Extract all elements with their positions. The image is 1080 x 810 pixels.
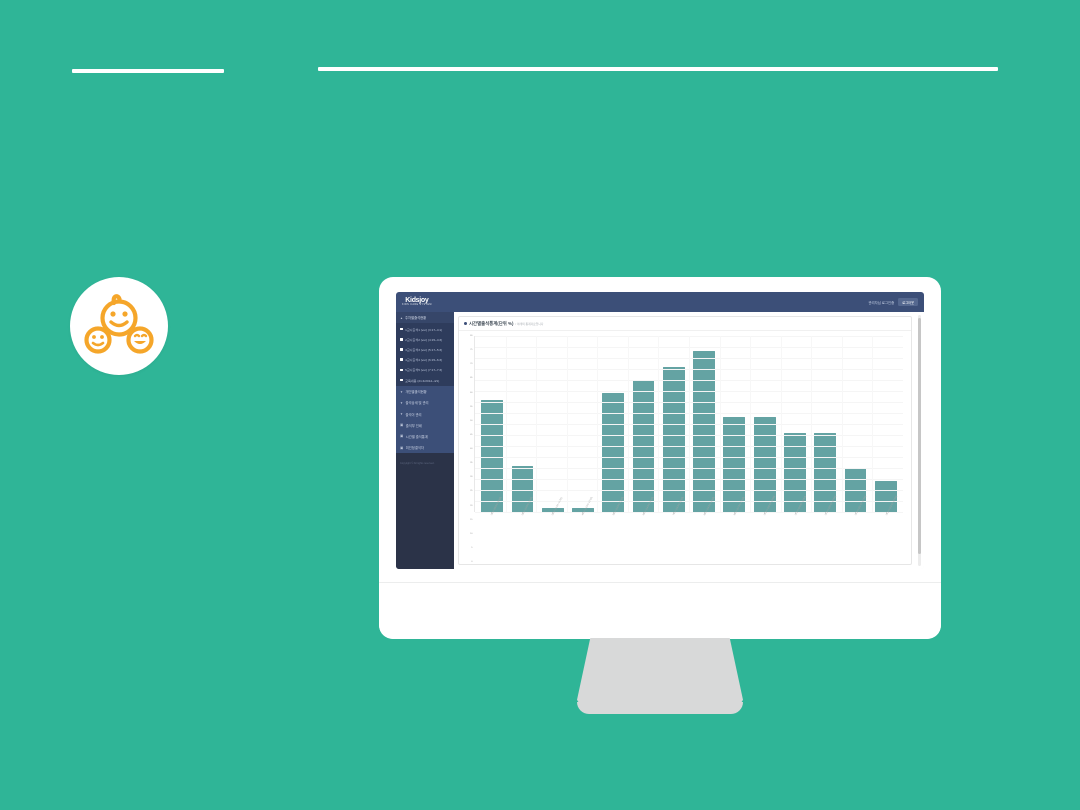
screen: Kidsjoy KIDS CARE SYSTEM 관리자님 로그인중 로그아웃 … — [396, 292, 924, 569]
sidebar-item-label: 출석상세 및 관리 — [405, 400, 428, 405]
gridline-vertical — [872, 336, 873, 512]
sidebar-item-label: 출석부 인쇄 — [406, 423, 422, 428]
bar[interactable] — [875, 481, 897, 512]
screen-body: ▲ 주차별출석현황 1교시출석1 (ver) (3:17~4:1) 2교시출석2… — [396, 312, 924, 569]
chart-container: 05101520253035404550556065707580 1교시 (09… — [459, 331, 911, 564]
sidebar-item-attendance-detail[interactable]: ▼ 출석상세 및 관리 — [396, 397, 454, 408]
square-bullet-icon — [400, 379, 403, 382]
y-axis-tick-label: 65 — [470, 377, 472, 379]
gridline-vertical — [628, 336, 629, 512]
square-bullet-icon — [400, 358, 403, 361]
y-axis-tick-label: 50 — [470, 420, 472, 422]
sidebar-item-personal-attendance[interactable]: ▼ 개인별출석현황 — [396, 386, 454, 397]
x-axis-slot: 2교시 (10:00~10:50) — [506, 512, 536, 562]
x-axis-slot: 1교시 (09:00~09:50) — [476, 512, 506, 562]
gridline-vertical — [720, 336, 721, 512]
x-axis-slot: 5교시 (13:00~13:50) — [597, 512, 627, 562]
y-axis-tick-label: 20 — [470, 504, 472, 506]
x-axis-slot: 3교시 (11:00~11:50) — [537, 512, 567, 562]
sidebar-subitem-label: 2교시출석2 (ver) (4:15~4:3) — [405, 337, 442, 342]
y-axis-tick-label: 40 — [470, 448, 472, 450]
monitor-stand-neck — [577, 638, 743, 710]
x-axis-slot: 6교시 (14:00~14:50) — [628, 512, 658, 562]
y-axis-tick-label: 5 — [471, 547, 472, 549]
monitor-stand-base — [577, 702, 743, 714]
chart-panel-header: 시간별출석통계(단위 %) / 아래의 통계자료입니다 — [459, 317, 911, 331]
y-axis-tick-label: 75 — [470, 349, 472, 351]
app-topbar: Kidsjoy KIDS CARE SYSTEM 관리자님 로그인중 로그아웃 — [396, 292, 924, 312]
sidebar-subitem-label: 1교시출석1 (ver) (3:17~4:1) — [405, 327, 442, 332]
monitor-mockup: Kidsjoy KIDS CARE SYSTEM 관리자님 로그인중 로그아웃 … — [379, 277, 941, 639]
gridline-vertical — [781, 336, 782, 512]
plot-area — [474, 336, 903, 512]
y-axis-tick-label: 0 — [471, 561, 472, 563]
brand-badge — [70, 277, 168, 375]
y-axis-tick-label: 55 — [470, 406, 472, 408]
gridline-vertical — [536, 336, 537, 512]
page-title: 시간별출석통계(단위 %) — [469, 321, 513, 327]
bar[interactable] — [693, 351, 715, 512]
plot-column: 1교시 (09:00~09:50)2교시 (10:00~10:50)3교시 (1… — [474, 336, 903, 562]
sidebar-item-attendance-manage[interactable]: ▼ 출석이 관리 — [396, 409, 454, 420]
sidebar-subitem-label: 교육내용 (21:4/2014~4/1) — [405, 378, 439, 383]
triangle-down-icon: ▼ — [400, 401, 403, 405]
sidebar-sublist: 1교시출석1 (ver) (3:17~4:1) 2교시출석2 (ver) (4:… — [396, 323, 454, 386]
sidebar-item-hourly-stats[interactable]: ▣ 시간별 출석통계 — [396, 431, 454, 442]
x-axis: 1교시 (09:00~09:50)2교시 (10:00~10:50)3교시 (1… — [474, 512, 903, 562]
sidebar-item-label: 개인별출석현황 — [405, 389, 426, 394]
document-icon: ▣ — [400, 446, 403, 450]
sidebar-item-label: 시간별 출석통계 — [406, 434, 428, 439]
bullet-dot-icon — [464, 322, 467, 325]
x-axis-slot: 11교시 (19:00~19:50) — [780, 512, 810, 562]
sidebar-subitem-5[interactable]: 5교시출석5 (ver) (7:17~7:3) — [396, 365, 454, 375]
bar[interactable] — [481, 400, 503, 512]
gridline-vertical — [811, 336, 812, 512]
monitor-frame: Kidsjoy KIDS CARE SYSTEM 관리자님 로그인중 로그아웃 … — [379, 277, 941, 639]
sidebar-subitem-2[interactable]: 2교시출석2 (ver) (4:15~4:3) — [396, 334, 454, 344]
sidebar-item-print-attendance[interactable]: ▣ 출석부 인쇄 — [396, 420, 454, 431]
sidebar-subitem-6[interactable]: 교육내용 (21:4/2014~4/1) — [396, 375, 454, 385]
sidebar-subitem-1[interactable]: 1교시출석1 (ver) (3:17~4:1) — [396, 324, 454, 334]
kidsjoy-faces-icon — [82, 291, 156, 361]
y-axis-tick-label: 10 — [470, 533, 472, 535]
sidebar-section-label: 주차별출석현황 — [405, 315, 426, 320]
gridline-vertical — [658, 336, 659, 512]
square-bullet-icon — [400, 328, 403, 331]
sidebar-item-label: 미인정결석자 — [406, 445, 424, 450]
y-axis-tick-label: 60 — [470, 391, 472, 393]
bar[interactable] — [512, 466, 534, 512]
app-logo-subtext: KIDS CARE SYSTEM — [402, 304, 432, 306]
monitor-chin — [379, 582, 941, 639]
x-axis-slot: 9교시 (17:00~17:50) — [719, 512, 749, 562]
document-icon: ▣ — [400, 434, 403, 438]
gridline-vertical — [842, 336, 843, 512]
sidebar-section-weekly-attendance[interactable]: ▲ 주차별출석현황 — [396, 312, 454, 323]
page-subtitle: / 아래의 통계자료입니다 — [515, 322, 543, 326]
gridline-vertical — [597, 336, 598, 512]
x-axis-slot: 14교시 (22:00~22:50) — [871, 512, 901, 562]
x-axis-slot: 8교시 (16:00~16:50) — [689, 512, 719, 562]
triangle-down-icon: ▼ — [400, 412, 403, 416]
copyright-text: Copyright © All rights reserved. — [400, 462, 450, 466]
chart-panel: 시간별출석통계(단위 %) / 아래의 통계자료입니다 051015202530… — [458, 316, 912, 565]
sidebar-subitem-3[interactable]: 3교시출석3 (ver) (5:17~5:3) — [396, 344, 454, 354]
x-axis-slot: 12교시 (20:00~20:50) — [810, 512, 840, 562]
y-axis-tick-label: 70 — [470, 363, 472, 365]
sidebar: ▲ 주차별출석현황 1교시출석1 (ver) (3:17~4:1) 2교시출석2… — [396, 312, 454, 569]
sidebar-subitem-4[interactable]: 4교시출석4 (ver) (6:15~6:3) — [396, 355, 454, 365]
x-axis-slot: 10교시 (18:00~18:50) — [749, 512, 779, 562]
sidebar-subitem-label: 3교시출석3 (ver) (5:17~5:3) — [405, 347, 442, 352]
gridline-vertical — [689, 336, 690, 512]
logout-button[interactable]: 로그아웃 — [898, 298, 918, 306]
document-icon: ▣ — [400, 423, 403, 427]
gridline-vertical — [506, 336, 507, 512]
y-axis-tick-label: 30 — [470, 476, 472, 478]
sidebar-subitem-label: 5교시출석5 (ver) (7:17~7:3) — [405, 367, 442, 372]
chevron-up-icon: ▲ — [400, 316, 403, 320]
decorative-rule-long — [318, 67, 998, 71]
sidebar-footer: Copyright © All rights reserved. — [396, 453, 454, 569]
app-logo[interactable]: Kidsjoy KIDS CARE SYSTEM — [402, 297, 432, 306]
square-bullet-icon — [400, 338, 403, 341]
topbar-right-group: 관리자님 로그인중 로그아웃 — [868, 298, 918, 306]
y-axis-tick-label: 80 — [470, 335, 472, 337]
content-area: 시간별출석통계(단위 %) / 아래의 통계자료입니다 051015202530… — [454, 312, 924, 569]
content-scrollbar-thumb[interactable] — [918, 318, 920, 554]
x-axis-slot: 4교시 (12:00~12:50) — [567, 512, 597, 562]
sidebar-item-label: 출석이 관리 — [405, 412, 421, 417]
logged-in-user-text: 관리자님 로그인중 — [868, 300, 894, 305]
sidebar-subitem-label: 4교시출석4 (ver) (6:15~6:3) — [405, 357, 442, 362]
x-axis-slot: 7교시 (15:00~15:50) — [658, 512, 688, 562]
square-bullet-icon — [400, 348, 403, 351]
y-axis-tick-label: 25 — [470, 490, 472, 492]
triangle-down-icon: ▼ — [400, 390, 403, 394]
y-axis-tick-label: 45 — [470, 434, 472, 436]
y-axis: 05101520253035404550556065707580 — [463, 336, 474, 562]
bar[interactable] — [602, 393, 624, 512]
decorative-rule-short — [72, 69, 224, 73]
y-axis-tick-label: 15 — [470, 519, 472, 521]
gridline-vertical — [567, 336, 568, 512]
x-axis-slot: 13교시 (21:00~21:50) — [840, 512, 870, 562]
sidebar-item-unexcused-absence[interactable]: ▣ 미인정결석자 — [396, 442, 454, 453]
bar-chart: 05101520253035404550556065707580 1교시 (09… — [463, 336, 903, 562]
y-axis-tick-label: 35 — [470, 462, 472, 464]
gridline-vertical — [750, 336, 751, 512]
square-bullet-icon — [400, 369, 403, 372]
